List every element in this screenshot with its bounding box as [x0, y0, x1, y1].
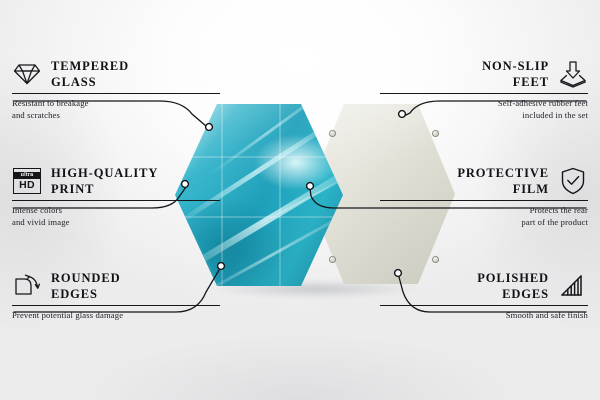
feature-title: POLISHED EDGES — [477, 270, 549, 302]
mounting-hole-top-left — [329, 130, 336, 137]
mounting-hole-top-right — [432, 130, 439, 137]
feature-description: Prevent potential glass damage — [12, 309, 220, 321]
feature-rounded-edges: ROUNDED EDGES Prevent potential glass da… — [12, 270, 220, 321]
desc-line-2: included in the set — [380, 109, 588, 121]
feature-tempered-glass: TEMPERED GLASS Resistant to breakage and… — [12, 58, 220, 121]
mounting-hole-bottom-left — [329, 256, 336, 263]
feature-description: Self-adhesive rubber feet included in th… — [380, 97, 588, 121]
desc-line-1: Prevent potential glass damage — [12, 310, 123, 320]
title-line-2: GLASS — [51, 74, 129, 90]
feature-title: PROTECTIVE FILM — [457, 165, 549, 197]
desc-line-1: Protects the rear — [530, 205, 588, 215]
desc-line-1: Self-adhesive rubber feet — [498, 98, 588, 108]
ultra-hd-badge: ultra HD — [13, 168, 41, 194]
feature-title: NON-SLIP FEET — [482, 58, 549, 90]
ultra-label: ultra — [14, 172, 40, 179]
hatched-triangle-icon — [558, 271, 588, 301]
feature-description: Protects the rear part of the product — [380, 204, 588, 228]
feature-title: ROUNDED EDGES — [51, 270, 121, 302]
feature-divider — [12, 93, 220, 94]
title-line-2: PRINT — [51, 181, 158, 197]
title-line-2: FEET — [482, 74, 549, 90]
title-line-1: TEMPERED — [51, 59, 129, 73]
feature-description: Resistant to breakage and scratches — [12, 97, 220, 121]
feature-header: TEMPERED GLASS — [12, 58, 220, 90]
feature-title: TEMPERED GLASS — [51, 58, 129, 90]
feature-protective-film: PROTECTIVE FILM Protects the rear part o… — [380, 165, 588, 228]
feature-divider — [12, 305, 220, 306]
desc-line-1: Intense colors — [12, 205, 62, 215]
glass-streak — [196, 203, 364, 298]
feature-header: ultra HD HIGH-QUALITY PRINT — [12, 165, 220, 197]
ultra-hd-icon: ultra HD — [12, 166, 42, 196]
feature-description: Intense colors and vivid image — [12, 204, 220, 228]
title-line-1: ROUNDED — [51, 271, 121, 285]
desc-line-2: and scratches — [12, 109, 220, 121]
anchor-dot-rounded-edges — [218, 263, 225, 270]
feature-polished-edges: POLISHED EDGES Smooth and safe finish — [380, 270, 588, 321]
shield-check-icon — [558, 166, 588, 196]
feature-divider — [380, 200, 588, 201]
title-line-2: EDGES — [51, 286, 121, 302]
infographic-canvas: TEMPERED GLASS Resistant to breakage and… — [0, 0, 600, 400]
title-line-2: FILM — [457, 181, 549, 197]
feature-high-quality-print: ultra HD HIGH-QUALITY PRINT Intense colo… — [12, 165, 220, 228]
feature-header: POLISHED EDGES — [380, 270, 588, 302]
feature-header: ROUNDED EDGES — [12, 270, 220, 302]
feature-title: HIGH-QUALITY PRINT — [51, 165, 158, 197]
feature-description: Smooth and safe finish — [380, 309, 588, 321]
feature-header: NON-SLIP FEET — [380, 58, 588, 90]
rounded-corner-icon — [12, 271, 42, 301]
title-line-2: EDGES — [477, 286, 549, 302]
glass-streak — [209, 79, 340, 175]
press-down-pad-icon — [558, 59, 588, 89]
feature-divider — [380, 93, 588, 94]
feature-header: PROTECTIVE FILM — [380, 165, 588, 197]
feature-non-slip-feet: NON-SLIP FEET Self-adhesive rubber feet … — [380, 58, 588, 121]
hd-label: HD — [19, 179, 35, 191]
feature-divider — [380, 305, 588, 306]
desc-line-1: Smooth and safe finish — [506, 310, 588, 320]
diamond-icon — [12, 59, 42, 89]
feature-divider — [12, 200, 220, 201]
title-line-1: PROTECTIVE — [457, 166, 549, 180]
mounting-hole-bottom-right — [432, 256, 439, 263]
glass-streak — [243, 161, 376, 233]
desc-line-2: part of the product — [380, 216, 588, 228]
title-line-1: NON-SLIP — [482, 59, 549, 73]
desc-line-1: Resistant to breakage — [12, 98, 89, 108]
title-line-1: HIGH-QUALITY — [51, 166, 158, 180]
glass-seam — [175, 156, 343, 158]
desc-line-2: and vivid image — [12, 216, 220, 228]
anchor-dot-protective-film — [307, 183, 314, 190]
glass-seam — [279, 104, 281, 286]
glass-seam — [221, 104, 223, 286]
title-line-1: POLISHED — [477, 271, 549, 285]
anchor-dot-tempered-glass — [206, 124, 213, 131]
